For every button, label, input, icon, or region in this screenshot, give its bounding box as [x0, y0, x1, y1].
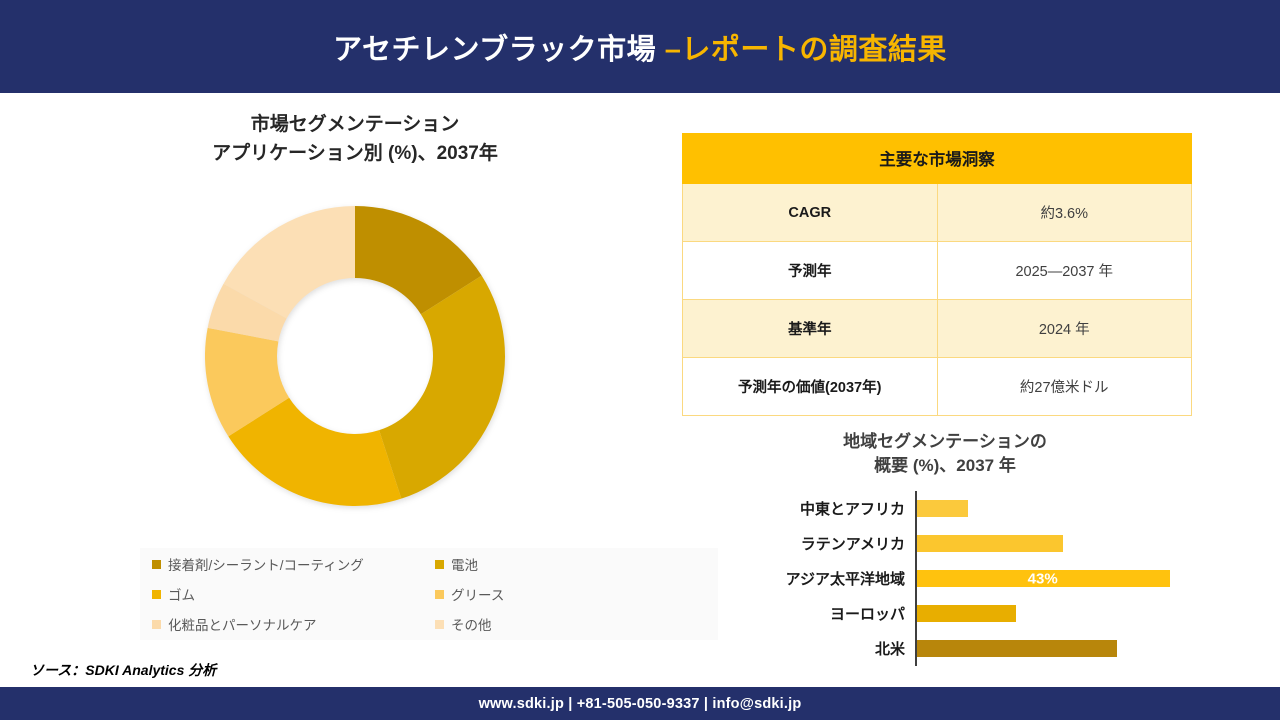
- table-cell-key: 予測年の価値(2037年): [683, 358, 938, 416]
- page-title-accent: –レポートの調査結果: [665, 34, 947, 66]
- legend-item-label: ゴム: [168, 584, 195, 604]
- bar-track: 43%: [915, 561, 1200, 596]
- donut-chart-panel: 市場セグメンテーション アプリケーション別 (%)、2037年 29%: [120, 110, 590, 536]
- bar-track: [915, 526, 1200, 561]
- donut-chart-svg: [175, 176, 535, 536]
- legend-swatch-icon: [152, 620, 161, 629]
- bar-chart-axis-line: [915, 491, 917, 666]
- donut-slice: [379, 276, 505, 499]
- bar-chart-title: 地域セグメンテーションの 概要 (%)、2037 年: [690, 430, 1200, 478]
- legend-item[interactable]: 接着剤/シーラント/コーティング: [152, 549, 435, 579]
- source-note: ソース：SDKI Analytics 分析: [30, 660, 216, 680]
- legend-swatch-icon: [152, 590, 161, 599]
- bar-chart-row: ラテンアメリカ: [740, 526, 1200, 561]
- bar-category-label: 中東とアフリカ: [740, 498, 915, 519]
- bar-chart-row: 北米: [740, 631, 1200, 666]
- bar-fill[interactable]: [915, 535, 1063, 552]
- donut-legend: 接着剤/シーラント/コーティング電池ゴムグリース化粧品とパーソナルケアその他: [140, 548, 718, 640]
- legend-item[interactable]: その他: [435, 609, 718, 639]
- page-title-main: アセチレンブラック市場: [333, 34, 665, 66]
- legend-swatch-icon: [435, 620, 444, 629]
- bar-data-label: 43%: [1028, 570, 1058, 587]
- bar-track: [915, 491, 1200, 526]
- bar-fill[interactable]: [915, 605, 1016, 622]
- table-cell-value: 2025—2037 年: [937, 242, 1192, 300]
- donut-chart: 29%: [175, 176, 535, 536]
- legend-item-label: その他: [451, 614, 492, 634]
- table-header-row: 主要な市場洞察: [683, 134, 1192, 184]
- table-cell-value: 2024 年: [937, 300, 1192, 358]
- legend-item[interactable]: ゴム: [152, 579, 435, 609]
- bar-chart-row: アジア太平洋地域43%: [740, 561, 1200, 596]
- bar-fill[interactable]: 43%: [915, 570, 1170, 587]
- table-row: 予測年2025—2037 年: [683, 242, 1192, 300]
- table-cell-key: CAGR: [683, 184, 938, 242]
- bar-chart-panel: 地域セグメンテーションの 概要 (%)、2037 年 中東とアフリカラテンアメリ…: [690, 430, 1200, 666]
- bar-chart: 中東とアフリカラテンアメリカアジア太平洋地域43%ヨーロッパ北米: [740, 491, 1200, 666]
- donut-chart-title-line1: 市場セグメンテーション: [120, 110, 590, 139]
- legend-item[interactable]: 電池: [435, 549, 718, 579]
- bar-category-label: 北米: [740, 638, 915, 659]
- legend-item-label: 接着剤/シーラント/コーティング: [168, 554, 364, 574]
- page-title: アセチレンブラック市場 –レポートの調査結果: [333, 26, 947, 68]
- table-cell-value: 約3.6%: [937, 184, 1192, 242]
- table-cell-value: 約27億米ドル: [937, 358, 1192, 416]
- bar-chart-row: 中東とアフリカ: [740, 491, 1200, 526]
- legend-swatch-icon: [435, 560, 444, 569]
- bar-track: [915, 596, 1200, 631]
- table-header-title: 主要な市場洞察: [683, 134, 1192, 184]
- bar-category-label: アジア太平洋地域: [740, 568, 915, 589]
- key-market-insights-table: 主要な市場洞察 CAGR約3.6%予測年2025—2037 年基準年2024 年…: [682, 133, 1192, 416]
- bar-category-label: ラテンアメリカ: [740, 533, 915, 554]
- legend-item[interactable]: 化粧品とパーソナルケア: [152, 609, 435, 639]
- bar-chart-title-line1: 地域セグメンテーションの: [690, 430, 1200, 454]
- bar-chart-row: ヨーロッパ: [740, 596, 1200, 631]
- legend-swatch-icon: [435, 590, 444, 599]
- bar-category-label: ヨーロッパ: [740, 603, 915, 624]
- page-header: アセチレンブラック市場 –レポートの調査結果: [0, 0, 1280, 93]
- bar-fill[interactable]: [915, 640, 1117, 657]
- table-row: 基準年2024 年: [683, 300, 1192, 358]
- table-cell-key: 予測年: [683, 242, 938, 300]
- table-cell-key: 基準年: [683, 300, 938, 358]
- legend-item-label: 化粧品とパーソナルケア: [168, 614, 317, 634]
- legend-item[interactable]: グリース: [435, 579, 718, 609]
- legend-swatch-icon: [152, 560, 161, 569]
- legend-item-label: 電池: [451, 554, 478, 574]
- table-row: CAGR約3.6%: [683, 184, 1192, 242]
- footer-contact-text: www.sdki.jp | +81-505-050-9337 | info@sd…: [479, 696, 802, 712]
- bar-chart-title-line2: 概要 (%)、2037 年: [690, 454, 1200, 478]
- page-footer: www.sdki.jp | +81-505-050-9337 | info@sd…: [0, 687, 1280, 720]
- table-row: 予測年の価値(2037年)約27億米ドル: [683, 358, 1192, 416]
- legend-item-label: グリース: [451, 584, 504, 604]
- bar-track: [915, 631, 1200, 666]
- bar-fill[interactable]: [915, 500, 968, 517]
- donut-chart-title-line2: アプリケーション別 (%)、2037年: [120, 139, 590, 168]
